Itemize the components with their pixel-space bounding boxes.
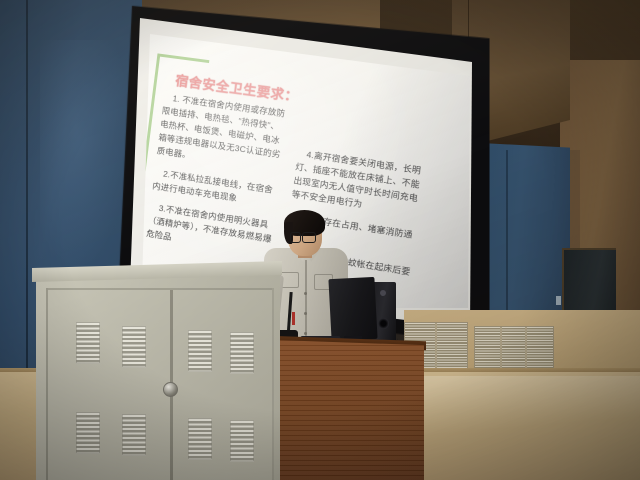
- cabinet-louver: [122, 414, 146, 456]
- light-switch[interactable]: [556, 296, 561, 305]
- cabinet-louver: [76, 322, 100, 364]
- left-wall-seam: [26, 0, 28, 400]
- tower-vent-icon: [378, 318, 389, 329]
- cabinet-louver: [230, 420, 254, 462]
- lecture-hall-photo: 宿舍安全卫生要求： 1. 不准在宿舍内使用或存放防限电插排、电热毯、"热得快"、…: [0, 0, 640, 480]
- cabinet-louver: [188, 330, 212, 372]
- shirt-button: [304, 292, 307, 295]
- shirt-button: [304, 332, 307, 335]
- right-blue-wall-seam: [506, 150, 508, 330]
- shirt-button: [304, 312, 307, 315]
- left-wall-light-sheen: [40, 40, 130, 270]
- cabinet-louver: [230, 332, 254, 374]
- glasses-lens-far: [290, 232, 301, 243]
- slide-item-3: 3.不准在宿舍内使用明火器具（酒精炉等），不准存放易燃易爆危险品: [145, 201, 274, 260]
- cabinet-louver: [122, 326, 146, 368]
- slide-accent-border-top: [157, 53, 209, 63]
- cabinet-louver: [188, 418, 212, 460]
- cabinet-lock-icon[interactable]: [163, 382, 178, 397]
- wooden-podium: [276, 340, 424, 480]
- glasses-lens-near: [302, 232, 316, 243]
- microphone-indicator: [292, 312, 295, 325]
- slide-item-1: 1. 不准在宿舍内使用或存放防限电插排、电热毯、"热得快"、电热杯、电饭煲、电磁…: [156, 91, 289, 176]
- tower-logo-icon: [380, 290, 386, 296]
- cabinet-louver: [76, 412, 100, 454]
